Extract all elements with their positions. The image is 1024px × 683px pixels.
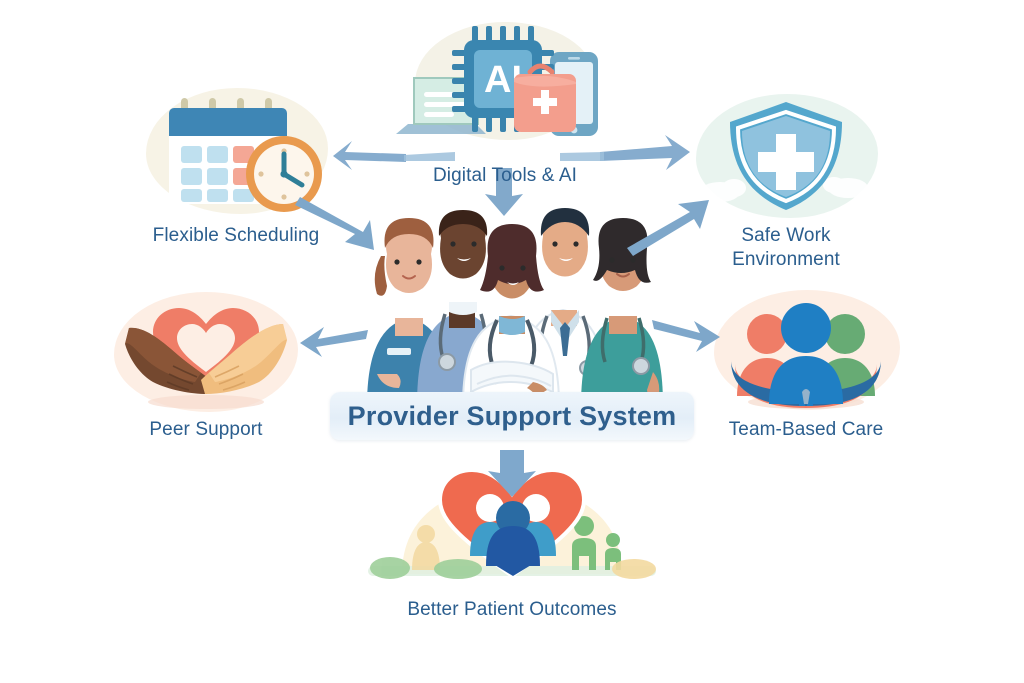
center-title-banner: Provider Support System xyxy=(330,392,694,440)
calendar-clock-icon xyxy=(141,90,331,216)
three-people-icon xyxy=(711,292,901,412)
safe-work-icon-wrap xyxy=(686,92,886,220)
label-digital-tools-ai: Digital Tools & AI xyxy=(433,164,577,188)
node-provider-support-system[interactable]: Provider Support System xyxy=(330,196,694,402)
peer-support-icon-wrap xyxy=(106,292,306,414)
label-peer-support: Peer Support xyxy=(149,418,262,442)
medical-bag-icon xyxy=(514,66,576,132)
label-better-patient-outcomes: Better Patient Outcomes xyxy=(407,598,616,622)
infographic-canvas: AI Digital Tools & AI xyxy=(0,0,1024,683)
page-title: Provider Support System xyxy=(348,401,677,432)
label-flexible-scheduling: Flexible Scheduling xyxy=(153,224,320,248)
clock-icon xyxy=(246,136,322,212)
node-better-patient-outcomes[interactable]: Better Patient Outcomes xyxy=(362,470,662,622)
healthcare-team-photo xyxy=(357,196,667,402)
node-flexible-scheduling[interactable]: Flexible Scheduling xyxy=(128,88,344,248)
node-digital-tools-ai[interactable]: AI Digital Tools & AI xyxy=(377,18,633,188)
label-team-based-care: Team-Based Care xyxy=(729,418,884,442)
shield-cross-icon xyxy=(696,94,876,218)
node-peer-support[interactable]: Peer Support xyxy=(106,292,306,442)
node-team-based-care[interactable]: Team-Based Care xyxy=(706,290,906,442)
label-safe-work-environment: Safe Work Environment xyxy=(732,224,840,272)
outcomes-icon-wrap xyxy=(362,470,662,580)
healthcare-team-illustration xyxy=(357,196,667,406)
scheduling-icon-wrap xyxy=(128,88,344,218)
handshake-heart-icon xyxy=(111,294,301,412)
team-care-icon-wrap xyxy=(706,290,906,414)
ai-chip-icon: AI xyxy=(390,20,620,140)
digital-tools-icon-wrap: AI xyxy=(377,18,633,142)
node-safe-work-environment[interactable]: Safe Work Environment xyxy=(686,92,886,272)
heart-family-icon xyxy=(362,470,662,580)
